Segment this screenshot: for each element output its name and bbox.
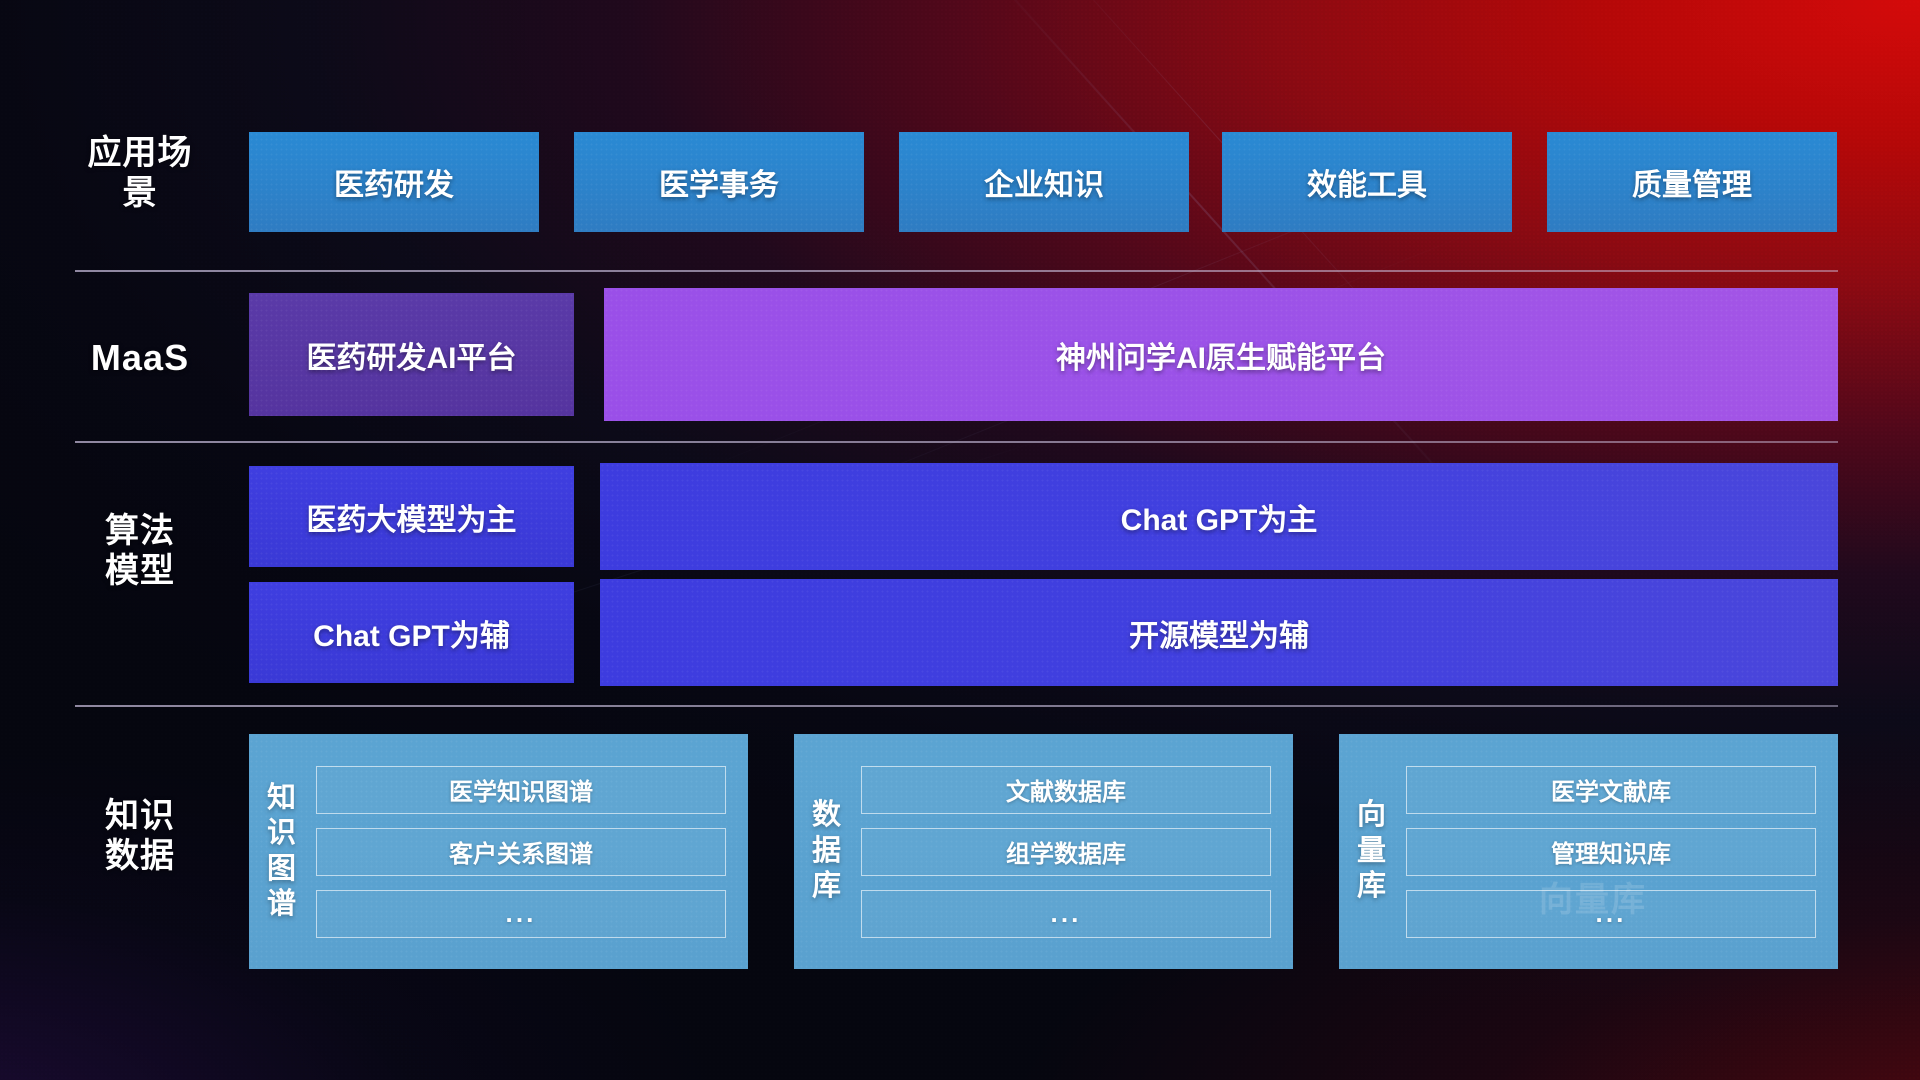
row-label-knowledge-line2: 数据 [75,836,205,876]
app-box-2[interactable]: 医学事务 [574,132,864,232]
maas-enablement-box[interactable]: 神州问学AI原生赋能平台 [604,288,1838,421]
list-item[interactable]: ... [861,890,1271,938]
algo-right-box-2[interactable]: 开源模型为辅 [600,579,1838,686]
algo-left-box-1-label: 医药大模型为主 [307,495,517,539]
algo-left-box-2[interactable]: Chat GPT为辅 [249,582,574,683]
app-box-3-label: 企业知识 [984,160,1104,204]
list-item[interactable]: 管理知识库 [1406,828,1816,876]
row-label-algorithm-line2: 模型 [75,551,205,591]
knowledge-panel-vector[interactable]: 向 量 库 向量库 医学文献库 管理知识库 ... [1339,734,1838,969]
maas-platform-label: 医药研发AI平台 [307,333,517,377]
kp2-char-2: 库 [812,869,841,904]
list-item[interactable]: 文献数据库 [861,766,1271,814]
kp2-char-1: 据 [812,834,841,869]
list-item[interactable]: ... [1406,890,1816,938]
knowledge-panel-graph[interactable]: 知 识 图 谱 医学知识图谱 客户关系图谱 ... [249,734,748,969]
algo-left-box-1[interactable]: 医药大模型为主 [249,466,574,567]
knowledge-panel-vector-items: 医学文献库 管理知识库 ... [1400,734,1838,969]
app-box-4[interactable]: 效能工具 [1222,132,1512,232]
list-item[interactable]: 客户关系图谱 [316,828,726,876]
row-label-maas: MaaS [75,337,205,379]
kp3-char-0: 向 [1357,798,1386,833]
kp3-char-1: 量 [1357,834,1386,869]
knowledge-panel-graph-title: 知 识 图 谱 [249,734,310,969]
algo-right-box-2-label: 开源模型为辅 [1129,611,1309,655]
app-box-2-label: 医学事务 [659,160,779,204]
maas-enablement-label: 神州问学AI原生赋能平台 [1056,333,1386,377]
knowledge-panel-database[interactable]: 数 据 库 文献数据库 组学数据库 ... [794,734,1293,969]
kp3-char-2: 库 [1357,869,1386,904]
knowledge-panel-graph-items: 医学知识图谱 客户关系图谱 ... [310,734,748,969]
app-box-4-label: 效能工具 [1307,160,1427,204]
knowledge-panel-database-title: 数 据 库 [794,734,855,969]
row-label-knowledge-line1: 知识 [75,796,205,836]
list-item[interactable]: 医学知识图谱 [316,766,726,814]
list-item[interactable]: 组学数据库 [861,828,1271,876]
row-label-knowledge: 知识 数据 [75,796,205,876]
kp1-char-3: 谱 [267,887,296,922]
kp1-char-1: 识 [267,816,296,851]
architecture-diagram: 应用场景 医药研发 医学事务 企业知识 效能工具 质量管理 MaaS 医药研发A… [0,0,1920,1080]
row-label-algorithm-line1: 算法 [75,511,205,551]
algo-right-box-1[interactable]: Chat GPT为主 [600,463,1838,570]
knowledge-panel-database-items: 文献数据库 组学数据库 ... [855,734,1293,969]
algo-right-box-1-label: Chat GPT为主 [1121,495,1318,539]
kp1-char-2: 图 [267,852,296,887]
app-box-1-label: 医药研发 [334,160,454,204]
row-label-algorithm: 算法 模型 [75,511,205,591]
app-box-1[interactable]: 医药研发 [249,132,539,232]
divider-algorithm-knowledge [75,705,1838,707]
algo-left-box-2-label: Chat GPT为辅 [313,611,510,655]
maas-platform-box[interactable]: 医药研发AI平台 [249,293,574,416]
kp1-char-0: 知 [267,781,296,816]
app-box-3[interactable]: 企业知识 [899,132,1189,232]
list-item[interactable]: ... [316,890,726,938]
knowledge-panel-vector-title: 向 量 库 [1339,734,1400,969]
list-item[interactable]: 医学文献库 [1406,766,1816,814]
row-label-application: 应用场景 [75,133,205,213]
divider-maas-algorithm [75,441,1838,443]
app-box-5-label: 质量管理 [1632,160,1752,204]
divider-application-maas [75,270,1838,272]
kp2-char-0: 数 [812,798,841,833]
app-box-5[interactable]: 质量管理 [1547,132,1837,232]
